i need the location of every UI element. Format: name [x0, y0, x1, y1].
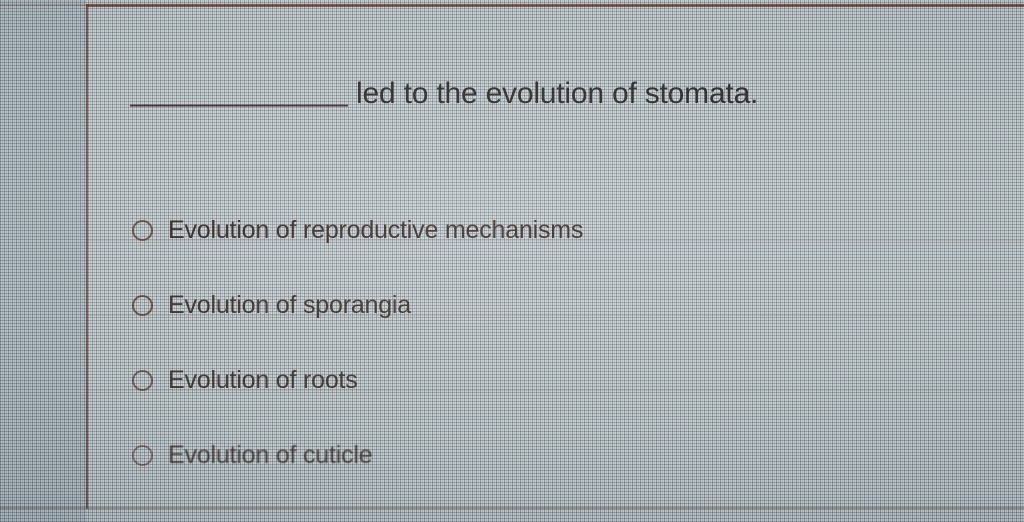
quiz-screenshot: _______________ led to the evolution of …: [0, 0, 1024, 522]
frame-top-left-edge: [0, 4, 86, 6]
question-card: _______________ led to the evolution of …: [88, 7, 1024, 507]
answer-option-label: Evolution of reproductive mechanisms: [168, 216, 583, 245]
question-text: led to the evolution of stomata.: [356, 77, 758, 111]
answer-option-label: Evolution of sporangia: [168, 291, 411, 320]
answer-option-label: Evolution of roots: [168, 366, 358, 395]
left-margin-gutter: [0, 0, 86, 522]
answer-option-3[interactable]: Evolution of roots: [132, 343, 992, 418]
radio-unchecked-icon[interactable]: [132, 370, 153, 391]
radio-unchecked-icon[interactable]: [132, 445, 153, 466]
answer-option-label: Evolution of cuticle: [168, 441, 372, 470]
radio-unchecked-icon[interactable]: [132, 220, 153, 241]
radio-unchecked-icon[interactable]: [132, 295, 153, 316]
answer-option-2[interactable]: Evolution of sporangia: [132, 268, 992, 343]
frame-bottom-border: [0, 507, 1024, 509]
answer-options-list: Evolution of reproductive mechanisms Evo…: [132, 193, 992, 493]
question-prompt: _______________ led to the evolution of …: [130, 77, 990, 123]
question-blank-field: _______________: [130, 76, 348, 109]
answer-option-4[interactable]: Evolution of cuticle: [132, 418, 992, 493]
answer-option-1[interactable]: Evolution of reproductive mechanisms: [132, 193, 992, 268]
